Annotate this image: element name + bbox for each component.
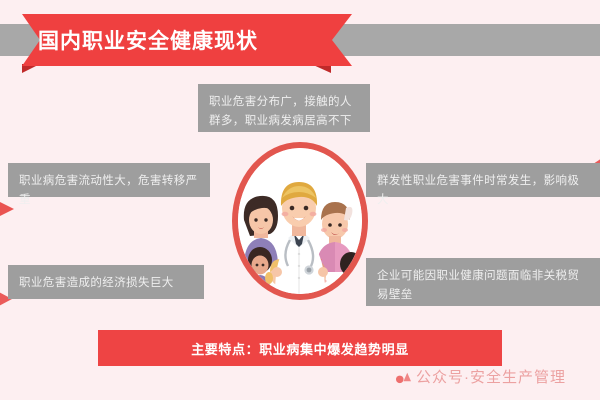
info-box-right-upper: 群发性职业危害事件时常发生，影响极大	[366, 163, 600, 197]
info-box-right-lower: 企业可能因职业健康问题面临非关税贸易壁垒	[366, 258, 600, 306]
header-bar-right	[330, 24, 600, 56]
info-box-left-lower: 职业危害造成的经济损失巨大	[8, 265, 204, 299]
page-title: 国内职业安全健康现状	[38, 14, 338, 66]
footer-banner-text: 主要特点：职业病集中爆发趋势明显	[98, 330, 502, 366]
illustration-ring	[232, 142, 368, 300]
brand-logo-icon	[396, 369, 411, 384]
info-box-top: 职业危害分布广，接触的人群多，职业病发病居高不下	[198, 84, 370, 132]
child-dark-hair-right	[340, 252, 362, 282]
doctor-and-patients-illustration	[232, 142, 368, 300]
watermark: 公众号·安全生产管理	[396, 364, 566, 388]
info-box-left-upper: 职业病危害流动性大，危害转移严重	[8, 163, 210, 197]
people-group-icon	[238, 148, 362, 294]
watermark-text: 公众号·安全生产管理	[416, 366, 566, 387]
slide-canvas: 国内职业安全健康现状 职业危害分布广，接触的人群多，职业病发病居高不下 职业病危…	[0, 0, 600, 400]
illustration-scene	[238, 148, 362, 294]
accent-triangle-left-top	[0, 196, 14, 222]
